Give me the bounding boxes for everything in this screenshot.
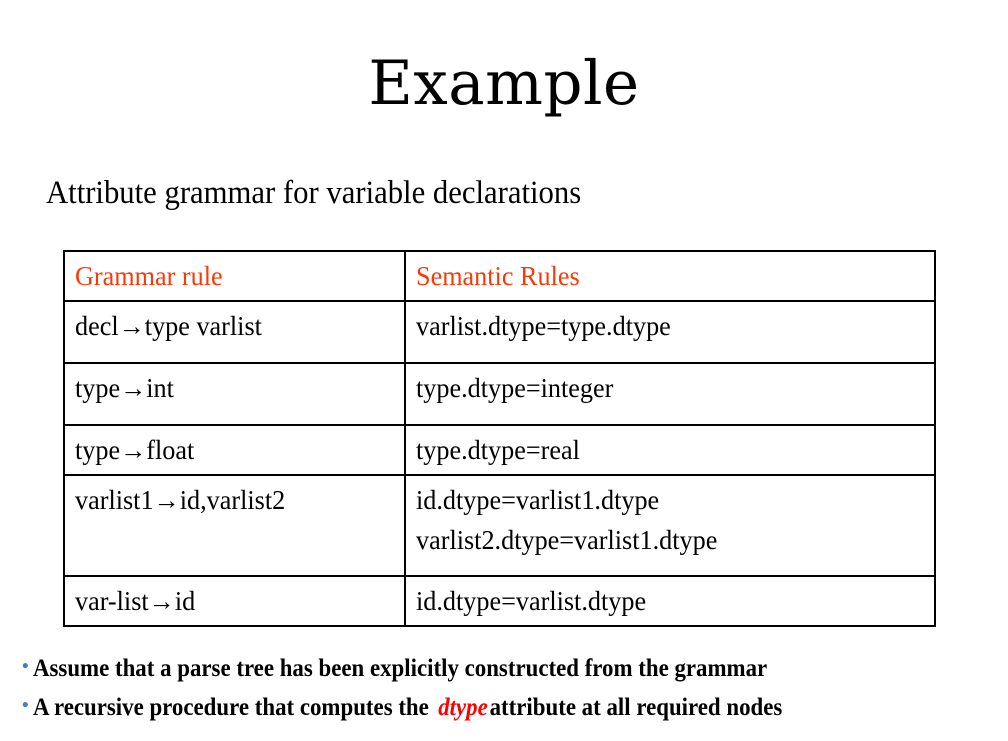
table-row: var-list→id id.dtype=varlist.dtype <box>64 576 935 626</box>
bullet-text: Assume that a parse tree has been explic… <box>33 650 767 687</box>
page-title: Example <box>0 48 1008 120</box>
grammar-rule-text: var-list→id <box>75 581 394 621</box>
table-header-semantic-rules-label: Semantic Rules <box>416 256 918 296</box>
semantic-rule-cell: id.dtype=varlist.dtype <box>405 576 935 626</box>
table-header-grammar-rule: Grammar rule <box>64 251 405 301</box>
semantic-rule-cell: type.dtype=integer <box>405 363 935 425</box>
semantic-rule-cell: id.dtype=varlist1.dtype varlist2.dtype=v… <box>405 475 935 576</box>
table-header-semantic-rules: Semantic Rules <box>405 251 935 301</box>
grammar-rule-cell: type→float <box>64 425 405 475</box>
bullet-text: A recursive procedure that computes the … <box>33 689 782 726</box>
semantic-rule-text: id.dtype=varlist.dtype <box>416 581 918 621</box>
list-item: • A recursive procedure that computes th… <box>22 689 1008 728</box>
bullet-text-post: attribute at all required nodes <box>490 694 783 721</box>
table-row: type→float type.dtype=real <box>64 425 935 475</box>
grammar-rule-cell: var-list→id <box>64 576 405 626</box>
bullet-point-icon: • <box>22 687 33 724</box>
bullet-list: • Assume that a parse tree has been expl… <box>22 650 1008 728</box>
grammar-rule-cell: type→int <box>64 363 405 425</box>
table-row: decl→type varlist varlist.dtype=type.dty… <box>64 301 935 363</box>
table-header-grammar-rule-label: Grammar rule <box>75 256 394 296</box>
bullet-highlight-dtype: dtype <box>435 694 490 721</box>
semantic-rule-text-line2: varlist2.dtype=varlist1.dtype <box>416 520 918 560</box>
grammar-rule-text: type→int <box>75 368 394 408</box>
bullet-point-icon: • <box>22 648 33 685</box>
bullet-text-pre: A recursive procedure that computes the <box>33 694 435 721</box>
semantic-rule-text-line1: id.dtype=varlist1.dtype <box>416 480 918 520</box>
grammar-rule-text: type→float <box>75 430 394 470</box>
grammar-rule-cell: decl→type varlist <box>64 301 405 363</box>
list-item: • Assume that a parse tree has been expl… <box>22 650 1008 689</box>
table-header-row: Grammar rule Semantic Rules <box>64 251 935 301</box>
slide-subtitle: Attribute grammar for variable declarati… <box>46 172 581 214</box>
table-row: varlist1→id,varlist2 id.dtype=varlist1.d… <box>64 475 935 576</box>
grammar-rule-cell: varlist1→id,varlist2 <box>64 475 405 576</box>
grammar-rule-text: decl→type varlist <box>75 306 394 346</box>
semantic-rule-text: varlist.dtype=type.dtype <box>416 306 918 346</box>
bullet-text-pre: Assume that a parse tree has been explic… <box>33 655 767 682</box>
semantic-rule-text: type.dtype=real <box>416 430 918 470</box>
grammar-rule-text: varlist1→id,varlist2 <box>75 480 394 520</box>
attribute-grammar-table: Grammar rule Semantic Rules decl→type va… <box>63 250 936 627</box>
semantic-rule-cell: varlist.dtype=type.dtype <box>405 301 935 363</box>
semantic-rule-text: type.dtype=integer <box>416 368 918 408</box>
semantic-rule-cell: type.dtype=real <box>405 425 935 475</box>
table-row: type→int type.dtype=integer <box>64 363 935 425</box>
